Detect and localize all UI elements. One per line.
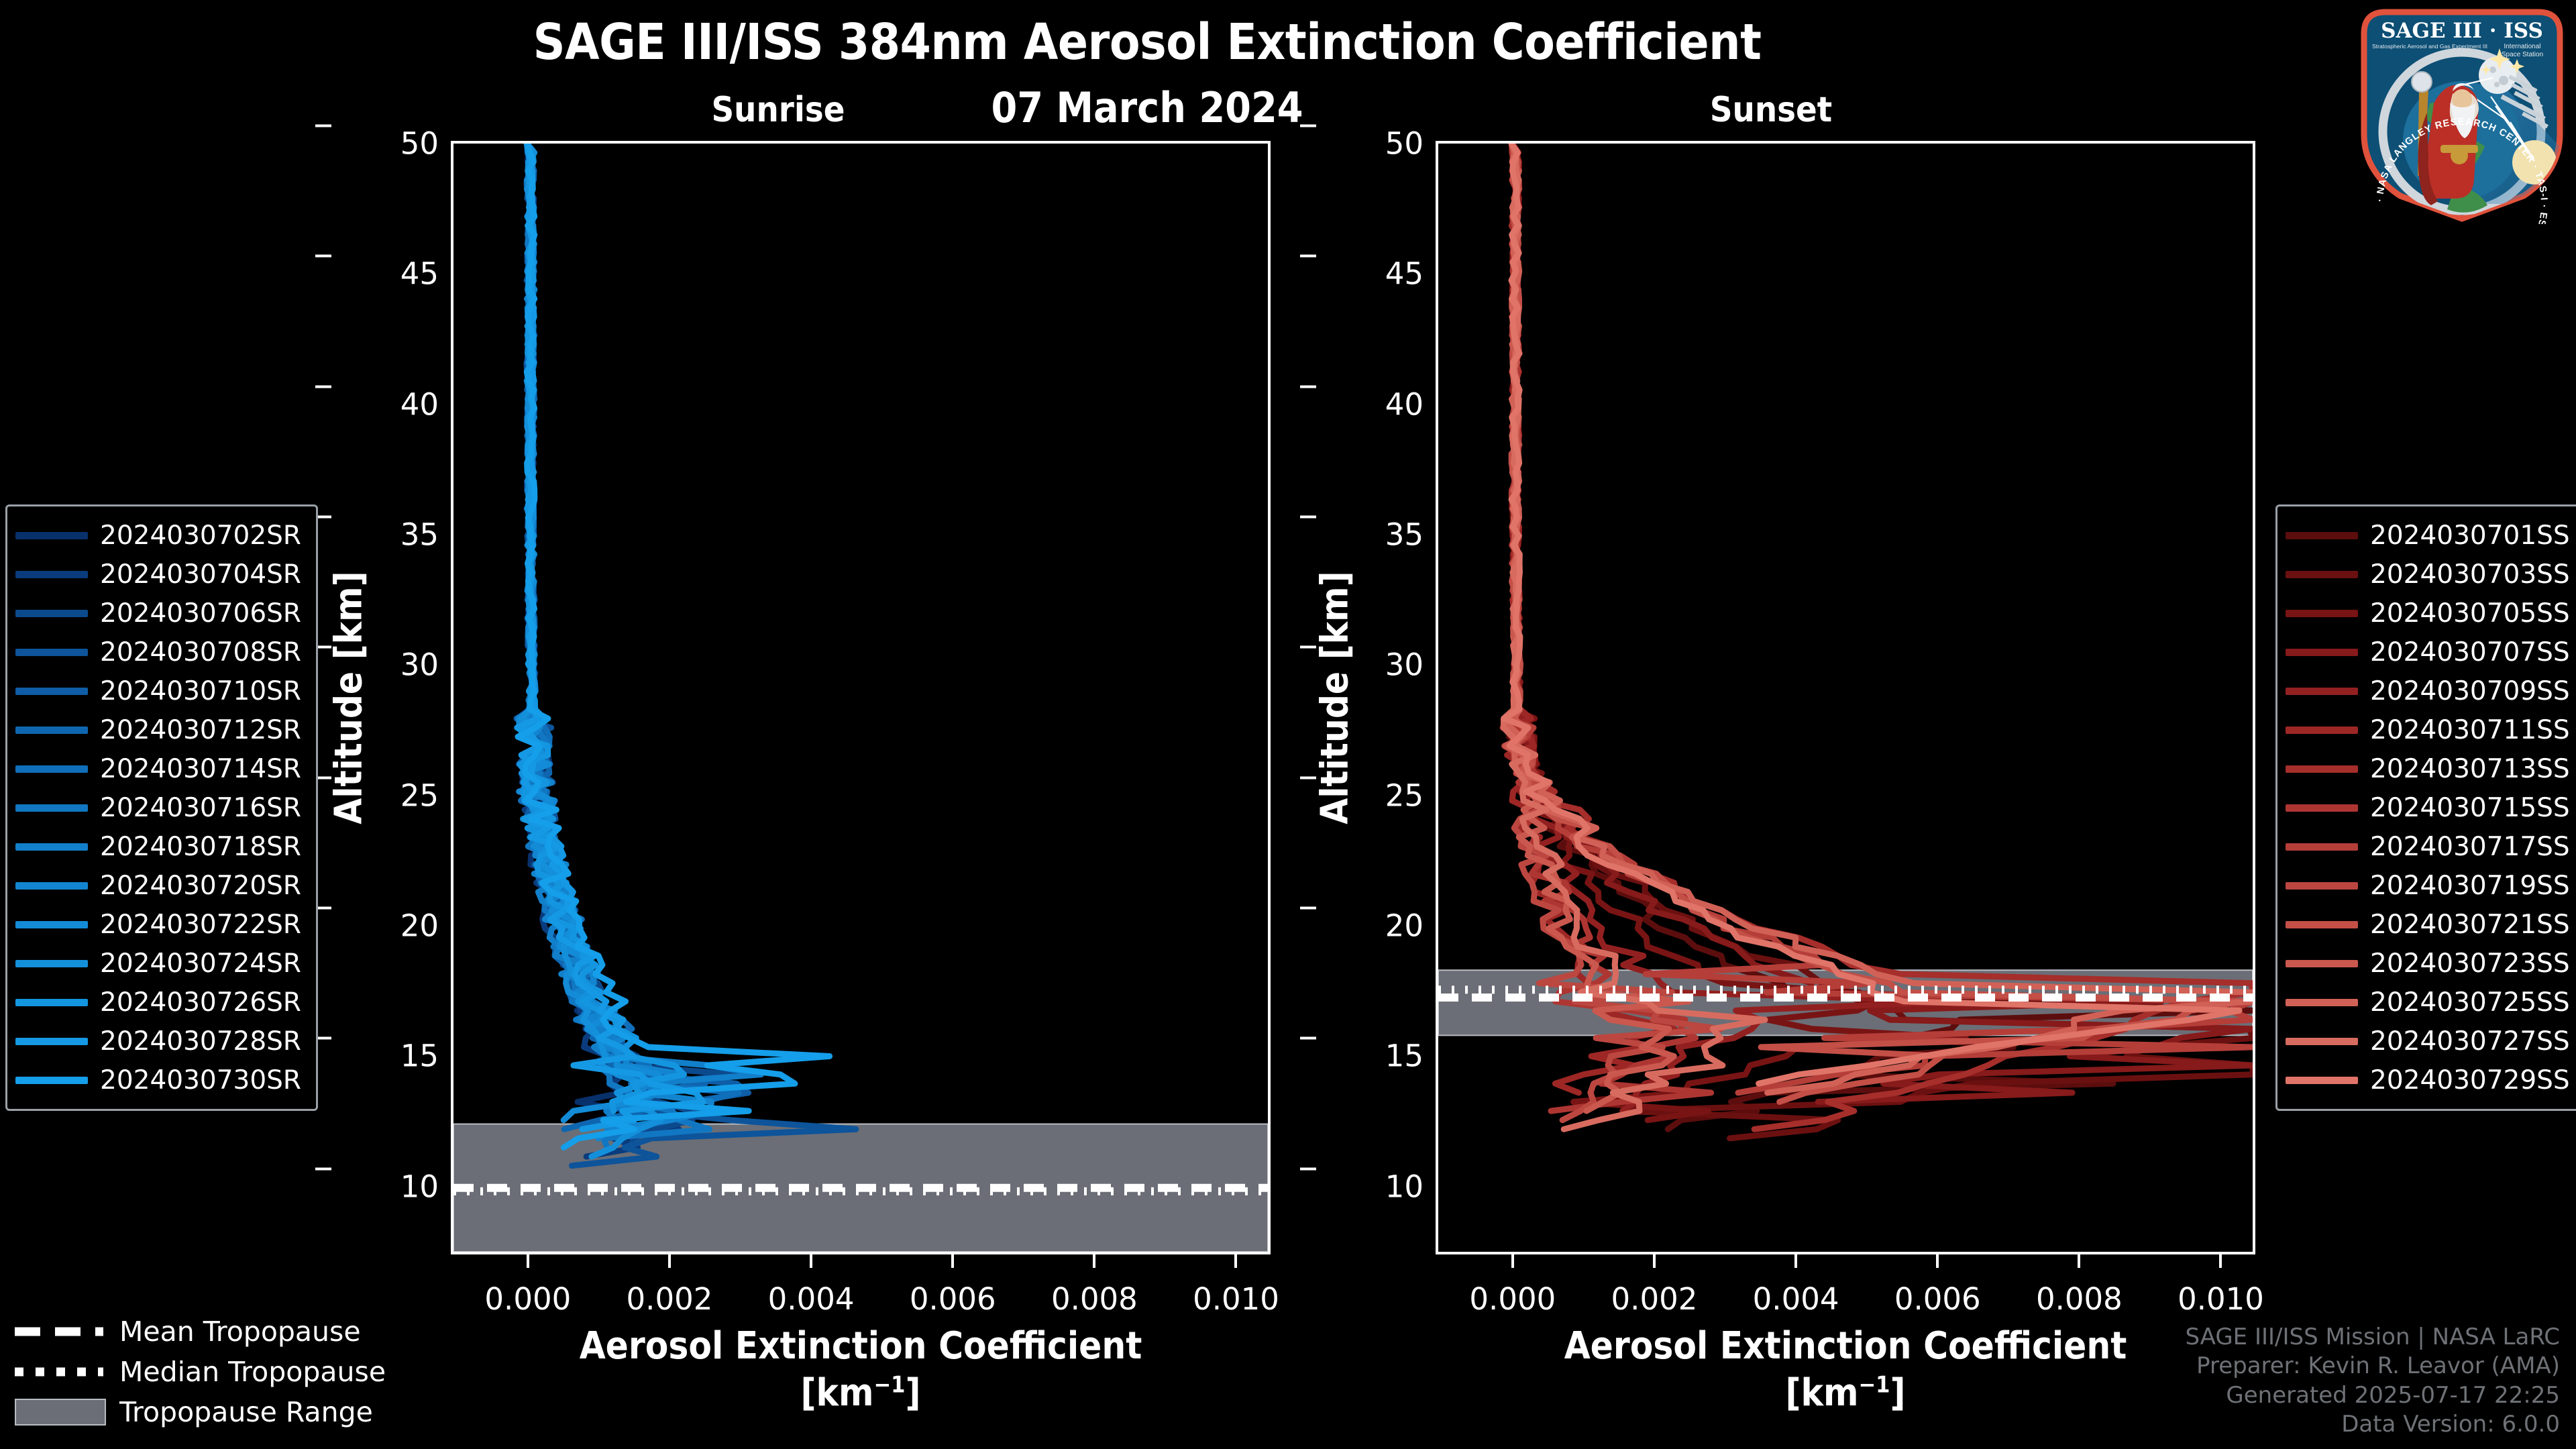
legend-color-swatch [2286, 960, 2358, 967]
x-tick-mark [951, 1252, 954, 1268]
x-tick-label: 0.000 [484, 1281, 571, 1317]
legend-color-swatch [15, 843, 88, 851]
legend-color-swatch [2286, 1038, 2358, 1045]
y-tick-label: 35 [331, 517, 439, 553]
x-tick-label: 0.000 [1469, 1281, 1556, 1317]
y-tick-label: 20 [1316, 908, 1424, 944]
legend-item-label: 2024030720SR [100, 871, 301, 901]
legend-item-label: 2024030729SS [2370, 1065, 2570, 1095]
legend-color-swatch [15, 688, 88, 695]
legend-item-2024030707SS[interactable]: 2024030707SS [2286, 633, 2576, 672]
x-tick-mark [527, 1252, 529, 1268]
legend-item-label: 2024030713SS [2370, 754, 2570, 784]
legend-color-swatch [2286, 765, 2358, 773]
credit-line: Generated 2025-07-17 22:25 [2185, 1381, 2560, 1411]
legend-item-2024030716SR[interactable]: 2024030716SR [15, 788, 305, 827]
logo-subtitle-right-1: International [2504, 43, 2540, 50]
legend-color-swatch [2286, 1077, 2358, 1084]
legend-item-2024030714SR[interactable]: 2024030714SR [15, 749, 305, 788]
sunset-plot-area [1438, 144, 2253, 1252]
legend-item-label: 2024030728SR [100, 1026, 301, 1057]
sunrise-plot-area [453, 144, 1268, 1252]
legend-color-swatch [15, 1038, 88, 1045]
page-title: SAGE III/ISS 384nm Aerosol Extinction Co… [0, 13, 2294, 71]
x-tick-mark [1794, 1252, 1797, 1268]
legend-color-swatch [2286, 571, 2358, 578]
legend-item-2024030724SR[interactable]: 2024030724SR [15, 944, 305, 983]
sunset-yaxis-label: Altitude [km] [1313, 571, 1357, 824]
legend-item-label: 2024030723SS [2370, 949, 2570, 979]
x-tick-label: 0.002 [1611, 1281, 1698, 1317]
profile-line-2024030729SS [1504, 144, 2239, 1083]
legend-item-2024030717SS[interactable]: 2024030717SS [2286, 827, 2576, 866]
legend-color-swatch [15, 649, 88, 656]
y-tick-label: 15 [331, 1038, 439, 1074]
legend-color-swatch [2286, 804, 2358, 812]
legend-color-swatch [2286, 610, 2358, 617]
y-tick-label: 50 [1316, 126, 1424, 162]
y-tick-label: 45 [1316, 256, 1424, 292]
legend-item-label: 2024030718SR [100, 832, 301, 862]
legend-item-label: 2024030704SR [100, 559, 301, 590]
legend-item-label: 2024030717SS [2370, 832, 2570, 862]
dotted-line-icon [15, 1364, 103, 1379]
x-tick-label: 0.008 [2036, 1281, 2123, 1317]
legend-item-label: 2024030716SR [100, 793, 301, 823]
sunset-xaxis-units: [km−1] [1438, 1371, 2253, 1415]
legend-tropopause-range: Tropopause Range [15, 1392, 390, 1432]
sage-iii-iss-logo: SAGE III · ISS Stratospheric Aerosol and… [2355, 3, 2569, 224]
legend-item-2024030711SS[interactable]: 2024030711SS [2286, 710, 2576, 749]
legend-color-swatch [2286, 532, 2358, 539]
legend-color-swatch [15, 610, 88, 617]
profile-line-2024030706SR [522, 144, 737, 1148]
x-tick-mark [810, 1252, 812, 1268]
legend-color-swatch [15, 765, 88, 773]
legend-median-tropopause: Median Tropopause [15, 1352, 390, 1392]
legend-color-swatch [15, 727, 88, 734]
legend-item-label: 2024030712SR [100, 715, 301, 745]
legend-item-2024030719SS[interactable]: 2024030719SS [2286, 866, 2576, 905]
profile-line-2024030718SR [519, 144, 761, 1129]
legend-item-label: 2024030703SS [2370, 559, 2570, 590]
legend-color-swatch [2286, 843, 2358, 851]
legend-item-label: 2024030701SS [2370, 521, 2570, 551]
x-tick-mark [1653, 1252, 1656, 1268]
profile-line-2024030720SR [519, 144, 712, 1138]
profile-line-2024030715SS [1504, 144, 1711, 1111]
sunrise-xaxis-label: Aerosol Extinction Coefficient [453, 1324, 1268, 1368]
legend-item-label: 2024030722SR [100, 910, 301, 940]
x-tick-label: 0.006 [910, 1281, 996, 1317]
x-tick-mark [1511, 1252, 1514, 1268]
legend-item-2024030713SS[interactable]: 2024030713SS [2286, 749, 2576, 788]
logo-subtitle-left: Stratospheric Aerosol and Gas Experiment… [2372, 43, 2487, 50]
x-tick-label: 0.010 [2178, 1281, 2264, 1317]
legend-item-label: 2024030725SS [2370, 987, 2570, 1018]
y-tick-label: 10 [331, 1169, 439, 1204]
x-tick-mark [1234, 1252, 1237, 1268]
sunrise-yaxis-label: Altitude [km] [327, 571, 371, 824]
x-tick-label: 0.010 [1193, 1281, 1279, 1317]
legend-item-label: 2024030727SS [2370, 1026, 2570, 1057]
profile-line-2024030710SR [517, 144, 749, 1129]
legend-item-2024030705SS[interactable]: 2024030705SS [2286, 594, 2576, 633]
legend-item-label: 2024030719SS [2370, 871, 2570, 901]
y-tick-label: 10 [1316, 1169, 1424, 1204]
legend-item-label: 2024030711SS [2370, 715, 2570, 745]
legend-color-swatch [15, 1077, 88, 1084]
legend-item-2024030709SS[interactable]: 2024030709SS [2286, 672, 2576, 710]
legend-color-swatch [2286, 727, 2358, 734]
legend-item-2024030728SR[interactable]: 2024030728SR [15, 1022, 305, 1061]
x-tick-mark [2078, 1252, 2080, 1268]
y-tick-label: 40 [1316, 386, 1424, 422]
legend-color-swatch [2286, 999, 2358, 1006]
credit-line: Preparer: Kevin R. Leavor (AMA) [2185, 1352, 2560, 1381]
legend-color-swatch [15, 999, 88, 1006]
y-tick-label: 15 [1316, 1038, 1424, 1074]
x-tick-label: 0.004 [1753, 1281, 1839, 1317]
profile-line-2024030708SR [517, 144, 856, 1166]
legend-item-label: 2024030708SR [100, 637, 301, 667]
credit-line: SAGE III/ISS Mission | NASA LaRC [2185, 1323, 2560, 1352]
logo-subtitle-right-2: Space Station [2502, 51, 2543, 58]
legend-color-swatch [15, 882, 88, 890]
legend-item-2024030723SS[interactable]: 2024030723SS [2286, 944, 2576, 983]
legend-item-2024030718SR[interactable]: 2024030718SR [15, 827, 305, 866]
sunset-panel-heading: Sunset [1583, 90, 1959, 130]
x-tick-mark [2219, 1252, 2222, 1268]
legend-item-2024030727SS[interactable]: 2024030727SS [2286, 1022, 2576, 1061]
legend-color-swatch [15, 960, 88, 967]
y-tick-label: 35 [1316, 517, 1424, 553]
profile-line-2024030730SR [518, 144, 830, 1148]
legend-color-swatch [15, 921, 88, 928]
legend-color-swatch [2286, 882, 2358, 890]
legend-item-2024030721SS[interactable]: 2024030721SS [2286, 905, 2576, 944]
filled-box-icon [15, 1405, 103, 1419]
sunset-event-legend[interactable]: 2024030701SS2024030703SS2024030705SS2024… [2275, 504, 2576, 1111]
x-tick-label: 0.004 [768, 1281, 855, 1317]
legend-color-swatch [15, 532, 88, 539]
dashed-line-icon [15, 1324, 103, 1339]
legend-color-swatch [2286, 921, 2358, 928]
legend-item-label: 2024030721SS [2370, 910, 2570, 940]
legend-item-label: 2024030706SR [100, 598, 301, 629]
legend-item-label: 2024030702SR [100, 521, 301, 551]
x-tick-mark [668, 1252, 671, 1268]
legend-item-2024030726SR[interactable]: 2024030726SR [15, 983, 305, 1022]
legend-item-label: 2024030707SS [2370, 637, 2570, 667]
sunrise-plot-panel[interactable]: 1015202530354045500.0000.0020.0040.0060.… [451, 141, 1271, 1254]
x-tick-mark [1093, 1252, 1095, 1268]
legend-item-label: 2024030705SS [2370, 598, 2570, 629]
profile-line-2024030707SS [1511, 144, 2253, 1102]
legend-item-2024030708SR[interactable]: 2024030708SR [15, 633, 305, 672]
legend-item-2024030712SR[interactable]: 2024030712SR [15, 710, 305, 749]
legend-item-2024030706SR[interactable]: 2024030706SR [15, 594, 305, 633]
legend-item-label: 2024030709SS [2370, 676, 2570, 706]
legend-item-2024030715SS[interactable]: 2024030715SS [2286, 788, 2576, 827]
y-tick-label: 40 [331, 386, 439, 422]
y-tick-label: 20 [331, 908, 439, 944]
legend-item-2024030702SR[interactable]: 2024030702SR [15, 516, 305, 555]
sunrise-xaxis-units: [km−1] [453, 1371, 1268, 1415]
legend-item-2024030701SS[interactable]: 2024030701SS [2286, 516, 2576, 555]
legend-item-2024030722SR[interactable]: 2024030722SR [15, 905, 305, 944]
credits-block: SAGE III/ISS Mission | NASA LaRCPreparer… [2185, 1323, 2560, 1440]
x-tick-mark [1936, 1252, 1939, 1268]
legend-item-2024030703SS[interactable]: 2024030703SS [2286, 555, 2576, 594]
sunset-xaxis-label: Aerosol Extinction Coefficient [1438, 1324, 2253, 1368]
sunset-plot-panel[interactable]: 1015202530354045500.0000.0020.0040.0060.… [1436, 141, 2255, 1254]
legend-item-label: 2024030710SR [100, 676, 301, 706]
legend-item-label: 2024030726SR [100, 987, 301, 1018]
legend-item-label: 2024030714SR [100, 754, 301, 784]
legend-item-2024030710SR[interactable]: 2024030710SR [15, 672, 305, 710]
x-tick-label: 0.006 [1894, 1281, 1981, 1317]
profile-line-2024030723SS [1506, 144, 1689, 1111]
sunrise-panel-heading: Sunrise [590, 90, 966, 130]
credit-line: Data Version: 6.0.0 [2185, 1410, 2560, 1440]
legend-item-2024030720SR[interactable]: 2024030720SR [15, 866, 305, 905]
tropopause-legend: Mean Tropopause Median Tropopause Tropop… [15, 1311, 390, 1432]
legend-item-2024030730SR[interactable]: 2024030730SR [15, 1061, 305, 1099]
legend-item-label: 2024030730SR [100, 1065, 301, 1095]
logo-title: SAGE III · ISS [2381, 19, 2543, 43]
y-tick-label: 50 [331, 126, 439, 162]
legend-item-2024030704SR[interactable]: 2024030704SR [15, 555, 305, 594]
legend-mean-tropopause: Mean Tropopause [15, 1311, 390, 1352]
sunrise-event-legend[interactable]: 2024030702SR2024030704SR2024030706SR2024… [5, 504, 318, 1111]
legend-color-swatch [2286, 649, 2358, 656]
legend-color-swatch [15, 804, 88, 812]
legend-color-swatch [2286, 688, 2358, 695]
legend-item-label: 2024030724SR [100, 949, 301, 979]
y-tick-label: 45 [331, 256, 439, 292]
profile-line-2024030714SR [521, 144, 739, 1111]
legend-item-2024030725SS[interactable]: 2024030725SS [2286, 983, 2576, 1022]
x-tick-label: 0.002 [627, 1281, 713, 1317]
legend-item-label: 2024030715SS [2370, 793, 2570, 823]
legend-item-2024030729SS[interactable]: 2024030729SS [2286, 1061, 2576, 1099]
legend-color-swatch [15, 571, 88, 578]
x-tick-label: 0.008 [1051, 1281, 1138, 1317]
